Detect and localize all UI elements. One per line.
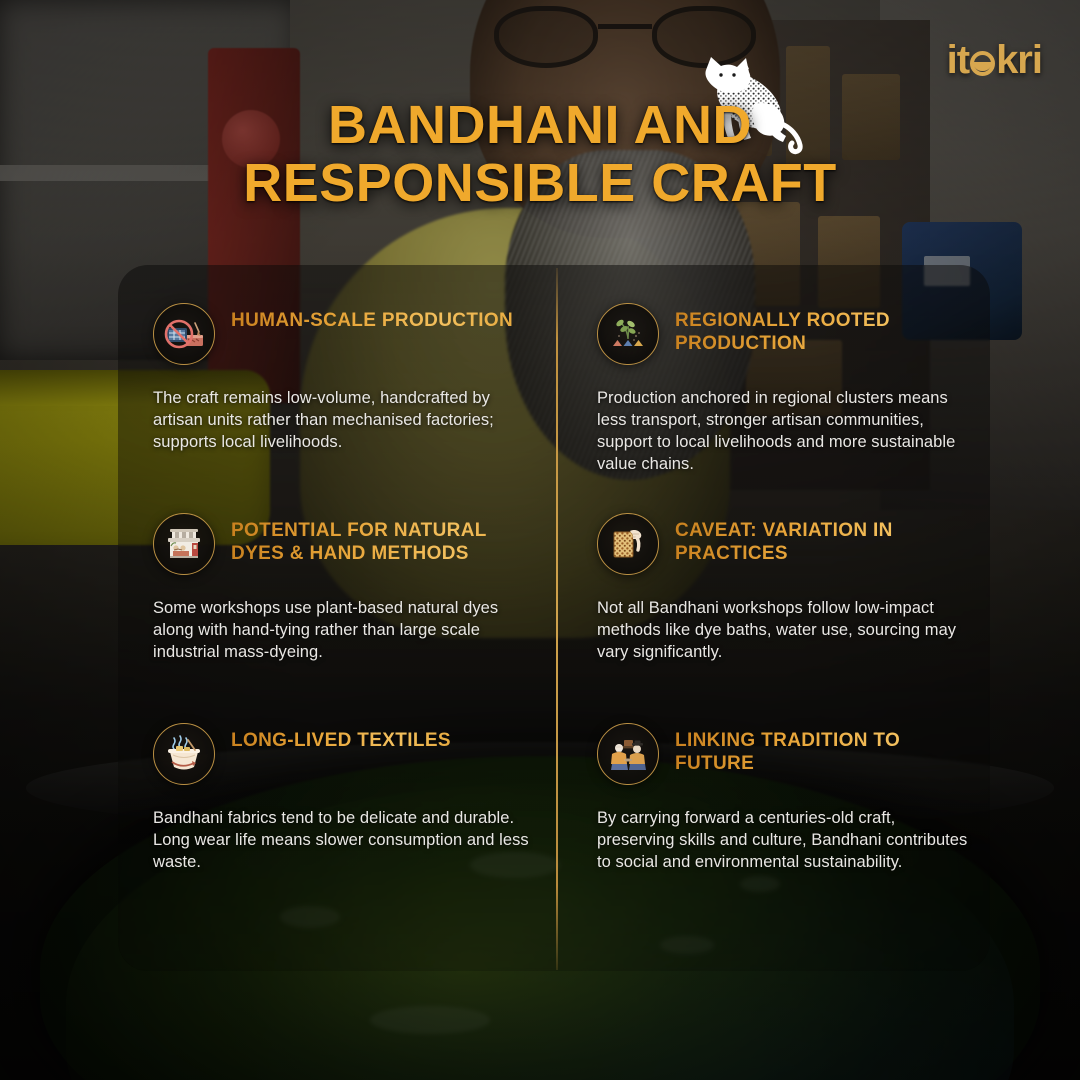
feature-grid: HUMAN-SCALE PRODUCTION The craft remains… — [118, 265, 990, 971]
feature-title: POTENTIAL FOR NATURAL DYES & HAND METHOD… — [231, 519, 521, 565]
feature-title-wrap: POTENTIAL FOR NATURAL DYES & HAND METHOD… — [231, 513, 521, 565]
brand-logo[interactable]: itkri — [947, 40, 1042, 80]
basket-o-icon — [970, 51, 995, 76]
feature-body: Some workshops use plant-based natural d… — [153, 597, 534, 663]
steaming-dye-pot-icon — [153, 723, 215, 785]
feature-header: POTENTIAL FOR NATURAL DYES & HAND METHOD… — [153, 475, 534, 575]
artisan-workshop-building-icon — [153, 513, 215, 575]
page-title: BANDHANI AND RESPONSIBLE CRAFT — [0, 96, 1080, 213]
feature-item-regionally-rooted-production: REGIONALLY ROOTED PRODUCTION Production … — [556, 265, 990, 475]
feature-header: LONG-LIVED TEXTILES — [153, 685, 534, 785]
feature-title-wrap: REGIONALLY ROOTED PRODUCTION — [675, 303, 965, 355]
feature-title-wrap: CAVEAT: VARIATION IN PRACTICES — [675, 513, 965, 565]
feature-title: HUMAN-SCALE PRODUCTION — [231, 309, 513, 332]
feature-title-wrap: LINKING TRADITION TO FUTURE — [675, 723, 965, 775]
feature-body: Production anchored in regional clusters… — [597, 387, 968, 475]
feature-body: Bandhani fabrics tend to be delicate and… — [153, 807, 534, 873]
feature-title: LONG-LIVED TEXTILES — [231, 729, 451, 752]
logo-text-before: it — [947, 40, 969, 80]
feature-title-wrap: LONG-LIVED TEXTILES — [231, 723, 451, 752]
seedling-sprout-icon — [597, 303, 659, 365]
feature-body: The craft remains low-volume, handcrafte… — [153, 387, 534, 453]
feature-item-human-scale-production: HUMAN-SCALE PRODUCTION The craft remains… — [118, 265, 556, 475]
feature-header: CAVEAT: VARIATION IN PRACTICES — [597, 475, 968, 575]
feature-body: Not all Bandhani workshops follow low-im… — [597, 597, 968, 663]
feature-header: LINKING TRADITION TO FUTURE — [597, 685, 968, 785]
hand-holding-patterned-fabric-icon — [597, 513, 659, 575]
feature-body: By carrying forward a centuries-old craf… — [597, 807, 968, 873]
feature-title: CAVEAT: VARIATION IN PRACTICES — [675, 519, 965, 565]
feature-item-caveat-variation-in-practices: CAVEAT: VARIATION IN PRACTICES Not all B… — [556, 475, 990, 685]
feature-item-linking-tradition-to-future: LINKING TRADITION TO FUTURE By carrying … — [556, 685, 990, 971]
feature-header: HUMAN-SCALE PRODUCTION — [153, 265, 534, 365]
no-factory-machine-icon — [153, 303, 215, 365]
feature-title: REGIONALLY ROOTED PRODUCTION — [675, 309, 965, 355]
feature-title: LINKING TRADITION TO FUTURE — [675, 729, 965, 775]
feature-header: REGIONALLY ROOTED PRODUCTION — [597, 265, 968, 365]
feature-title-wrap: HUMAN-SCALE PRODUCTION — [231, 303, 513, 332]
feature-item-natural-dyes-hand-methods: POTENTIAL FOR NATURAL DYES & HAND METHOD… — [118, 475, 556, 685]
page-title-line-1: BANDHANI AND — [120, 96, 960, 154]
two-seated-artisans-icon — [597, 723, 659, 785]
feature-item-long-lived-textiles: LONG-LIVED TEXTILES Bandhani fabrics ten… — [118, 685, 556, 971]
page-title-line-2: RESPONSIBLE CRAFT — [120, 154, 960, 212]
logo-text-after: kri — [996, 40, 1042, 80]
